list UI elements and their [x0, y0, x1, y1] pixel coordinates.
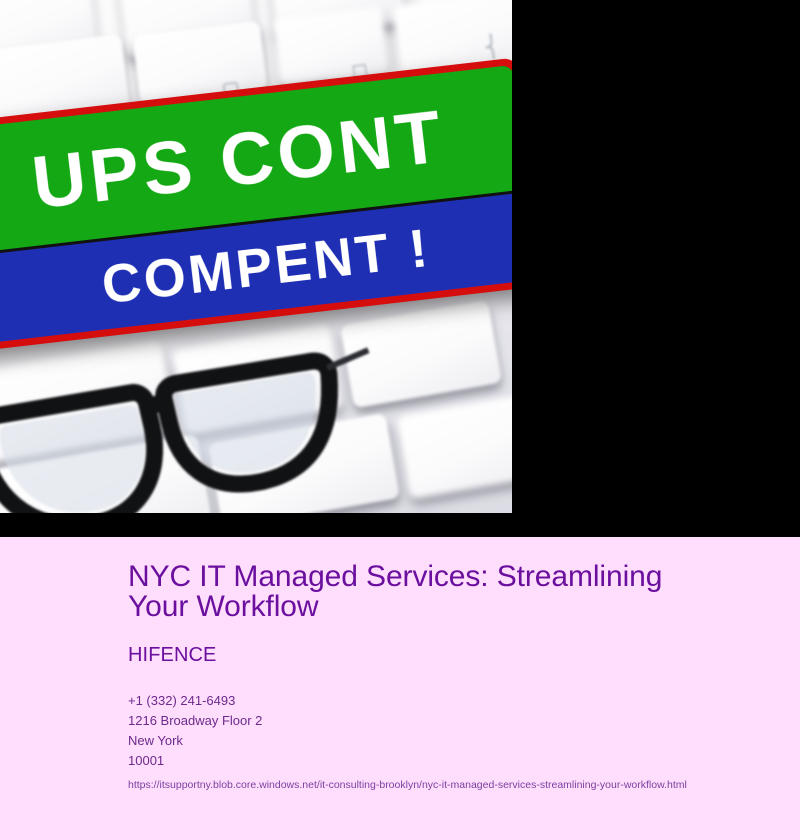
- contact-phone[interactable]: +1 (332) 241-6493: [128, 691, 740, 711]
- contact-block: +1 (332) 241-6493 1216 Broadway Floor 2 …: [128, 691, 740, 771]
- text-card: NYC IT Managed Services: Streamlining Yo…: [0, 537, 800, 840]
- contact-postal-code: 10001: [128, 751, 740, 771]
- contact-city: New York: [128, 731, 740, 751]
- brand-name: HIFENCE: [128, 645, 740, 665]
- hero-region: ▢ ▣ ☐ ⎨ ▌▴ UPS CONT COMPENT !: [0, 0, 800, 537]
- hero-photo: ▢ ▣ ☐ ⎨ ▌▴ UPS CONT COMPENT !: [0, 0, 512, 513]
- card-inner: NYC IT Managed Services: Streamlining Yo…: [128, 562, 740, 793]
- keycap-glyph-icon: ⎨: [482, 33, 502, 61]
- page-url[interactable]: https://itsupportny.blob.core.windows.ne…: [128, 777, 740, 793]
- contact-street: 1216 Broadway Floor 2: [128, 711, 740, 731]
- page-title: NYC IT Managed Services: Streamlining Yo…: [128, 562, 718, 622]
